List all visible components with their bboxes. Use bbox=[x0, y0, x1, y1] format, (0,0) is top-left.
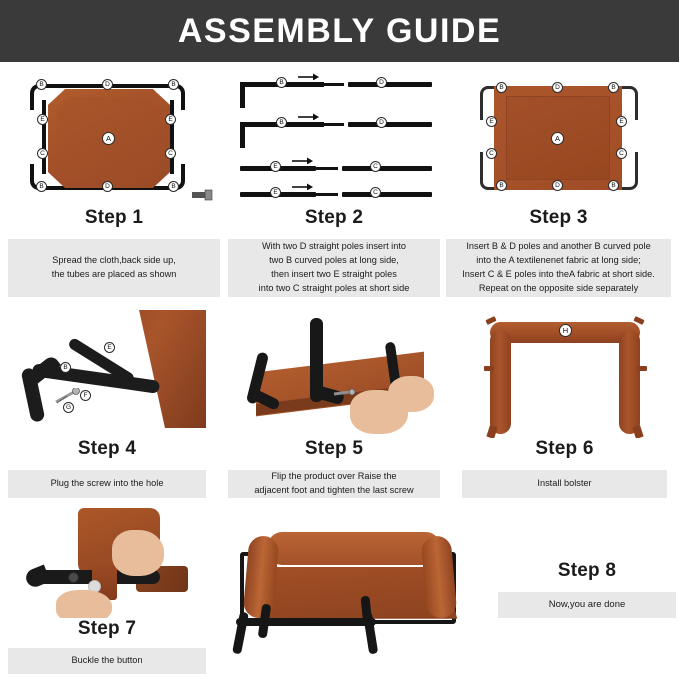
marker-b-top-left-s3: B bbox=[496, 82, 507, 93]
bolster-right bbox=[420, 535, 457, 619]
pole-c-shaft-1 bbox=[342, 166, 432, 171]
step-5-caption: Flip the product over Raise the adjacent… bbox=[228, 470, 440, 498]
arrow-right-icon-1 bbox=[298, 72, 320, 80]
step-4-caption: Plug the screw into the hole bbox=[8, 470, 206, 498]
marker-b-bottom-left: B bbox=[36, 181, 47, 192]
screw-icon-step5 bbox=[332, 386, 360, 400]
marker-e-pole-2: E bbox=[270, 187, 281, 198]
pole-assembly-bd-2: B D bbox=[236, 120, 432, 146]
frame-tube-bend-step7 bbox=[23, 565, 50, 590]
bolster-back bbox=[268, 532, 440, 565]
step-1-caption: Spread the cloth,back side up, the tubes… bbox=[8, 239, 220, 297]
pole-assembly-bd-1: B D bbox=[236, 80, 432, 106]
step-7-caption: Buckle the button bbox=[8, 648, 206, 674]
page-header: ASSEMBLY GUIDE bbox=[0, 0, 679, 62]
marker-c-pole-1: C bbox=[370, 161, 381, 172]
marker-d-top: D bbox=[102, 79, 113, 90]
step-2-illustration: B D B D bbox=[228, 72, 440, 207]
marker-b-pole-2: B bbox=[276, 117, 287, 128]
pole-d-shaft-1 bbox=[348, 82, 432, 87]
pole-e-tip-1 bbox=[314, 167, 338, 170]
marker-b-bottom-right: B bbox=[168, 181, 179, 192]
marker-b-top-right-s3: B bbox=[608, 82, 619, 93]
marker-b-step4: B bbox=[60, 362, 71, 373]
strap-mid-left bbox=[484, 366, 494, 371]
marker-b-bottom-left-s3: B bbox=[496, 180, 507, 191]
marker-c-left-s3: C bbox=[486, 148, 497, 159]
marker-e-left: E bbox=[37, 114, 48, 125]
marker-g-step4: G bbox=[63, 402, 74, 413]
step-7-illustration bbox=[8, 508, 206, 618]
step-panel-6: H Step 6 Install bolster bbox=[462, 310, 667, 498]
marker-b-top-left: B bbox=[36, 79, 47, 90]
pole-assembly-ec-2: E C bbox=[236, 190, 432, 216]
step-3-label: Step 3 bbox=[446, 207, 671, 229]
marker-b-top-right: B bbox=[168, 79, 179, 90]
strap-bottom-right bbox=[632, 425, 643, 438]
step-3-illustration: B D B E E C C A B D B bbox=[446, 72, 671, 207]
hand-icon-bottom bbox=[56, 590, 112, 618]
bolster-left-section bbox=[490, 330, 511, 434]
marker-e-right-s3: E bbox=[616, 116, 627, 127]
marker-c-pole-2: C bbox=[370, 187, 381, 198]
marker-e-step4: E bbox=[104, 342, 115, 353]
step-5-illustration bbox=[228, 310, 440, 438]
step-8-label: Step 8 bbox=[498, 560, 676, 582]
tube-right-vertical bbox=[170, 100, 174, 174]
hand-icon-upper bbox=[388, 376, 434, 412]
pole-d-shaft-2 bbox=[348, 122, 432, 127]
step-8-illustration bbox=[216, 508, 496, 658]
pole-b-tip-2 bbox=[322, 123, 344, 126]
marker-e-pole-1: E bbox=[270, 161, 281, 172]
assembly-guide-page: ASSEMBLY GUIDE B D B E E C bbox=[0, 0, 679, 677]
pole-assembly-ec-1: E C bbox=[236, 164, 432, 190]
step-8-text-block: Step 8 Now,you are done bbox=[498, 560, 676, 618]
step-panel-4: B E F G Step 4 Plug the screw into the h… bbox=[8, 310, 206, 498]
marker-c-right-s3: C bbox=[616, 148, 627, 159]
page-title: ASSEMBLY GUIDE bbox=[178, 12, 501, 51]
pole-b-tip-1 bbox=[322, 83, 344, 86]
step-4-label: Step 4 bbox=[8, 438, 206, 460]
marker-f-step4: F bbox=[80, 390, 91, 401]
marker-c-left: C bbox=[37, 148, 48, 159]
step-panel-1: B D B E E C C A B D B Step 1 Spread the … bbox=[8, 72, 220, 297]
step-6-caption: Install bolster bbox=[462, 470, 667, 498]
step-7-label: Step 7 bbox=[8, 618, 206, 640]
strap-bottom-left bbox=[486, 425, 497, 438]
marker-b-bottom-right-s3: B bbox=[608, 180, 619, 191]
marker-a-center: A bbox=[102, 132, 115, 145]
arrow-right-icon-3 bbox=[292, 156, 314, 164]
marker-a-center-s3: A bbox=[551, 132, 564, 145]
bolster-right-section bbox=[619, 330, 640, 434]
step-6-illustration: H bbox=[462, 310, 667, 438]
step-panel-8: Step 8 Now,you are done bbox=[216, 508, 679, 670]
step-4-illustration: B E F G bbox=[8, 310, 206, 438]
screw-head-step7 bbox=[68, 572, 79, 583]
marker-e-right: E bbox=[165, 114, 176, 125]
tube-left-vertical bbox=[42, 100, 46, 174]
step-3-caption: Insert B & D poles and another B curved … bbox=[446, 239, 671, 297]
step-1-label: Step 1 bbox=[8, 207, 220, 229]
arrow-right-icon-4 bbox=[292, 182, 314, 190]
strap-mid-right bbox=[637, 366, 647, 371]
step-5-label: Step 5 bbox=[228, 438, 440, 460]
hand-icon-top bbox=[112, 530, 164, 576]
step-1-illustration: B D B E E C C A B D B bbox=[8, 72, 220, 207]
step-panel-7: Step 7 Buckle the button bbox=[8, 508, 206, 674]
marker-d-bottom-s3: D bbox=[552, 180, 563, 191]
arrow-right-icon-2 bbox=[298, 112, 320, 120]
screw-icon bbox=[192, 189, 214, 201]
step-panel-2: B D B D bbox=[228, 72, 440, 297]
marker-e-left-s3: E bbox=[486, 116, 497, 127]
bed-crossbar bbox=[236, 618, 376, 626]
step-panel-3: B D B E E C C A B D B Step 3 Insert B & … bbox=[446, 72, 671, 297]
step-6-label: Step 6 bbox=[462, 438, 667, 460]
pole-c-shaft-2 bbox=[342, 192, 432, 197]
step-panel-5: Step 5 Flip the product over Raise the a… bbox=[228, 310, 440, 498]
marker-b-pole-1: B bbox=[276, 77, 287, 88]
marker-d-bottom: D bbox=[102, 181, 113, 192]
marker-d-pole-1: D bbox=[376, 77, 387, 88]
step-8-caption: Now,you are done bbox=[498, 592, 676, 618]
marker-h-bolster: H bbox=[559, 324, 572, 337]
marker-d-pole-2: D bbox=[376, 117, 387, 128]
marker-c-right: C bbox=[165, 148, 176, 159]
pole-e-tip-2 bbox=[314, 193, 338, 196]
step-2-caption: With two D straight poles insert into tw… bbox=[228, 239, 440, 297]
marker-d-top-s3: D bbox=[552, 82, 563, 93]
